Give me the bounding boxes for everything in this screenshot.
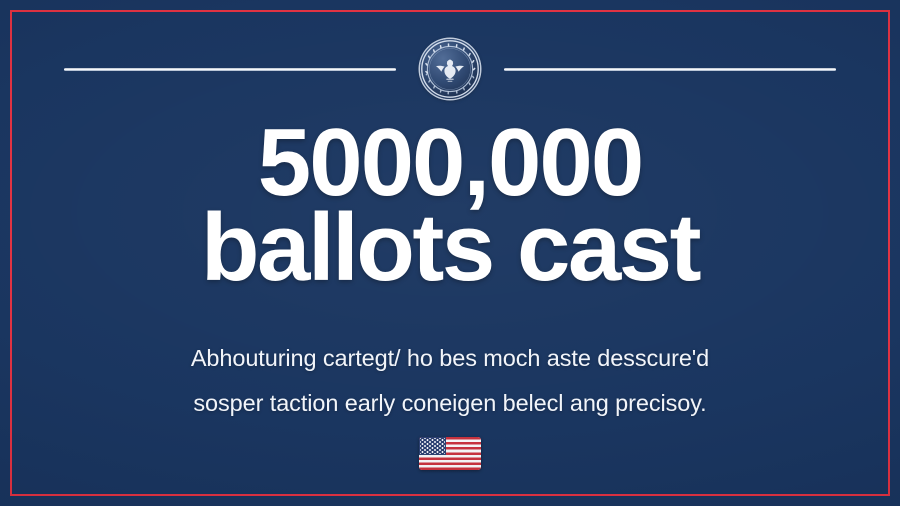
flag-canton <box>419 437 446 455</box>
subtitle-line-1: Abhouturing cartegt/ ho bes moch aste de… <box>70 336 830 381</box>
headline-block: 5000,000 ballots cast <box>0 118 900 293</box>
headline-label: ballots cast <box>0 203 900 292</box>
united-states-flag-icon <box>419 437 481 470</box>
official-government-seal <box>420 39 480 99</box>
flag-stars <box>420 438 445 454</box>
subtitle-block: Abhouturing cartegt/ ho bes moch aste de… <box>70 336 830 426</box>
footer-flag-row <box>0 437 900 470</box>
subtitle-line-2: sosper taction early coneigen belecl ang… <box>70 381 830 426</box>
poster-canvas: 5000,000 ballots cast Abhouturing carteg… <box>0 0 900 506</box>
crest-row <box>0 38 900 100</box>
divider-rule-right <box>504 68 836 71</box>
poster-content: 5000,000 ballots cast Abhouturing carteg… <box>0 0 900 506</box>
divider-rule-left <box>64 68 396 71</box>
